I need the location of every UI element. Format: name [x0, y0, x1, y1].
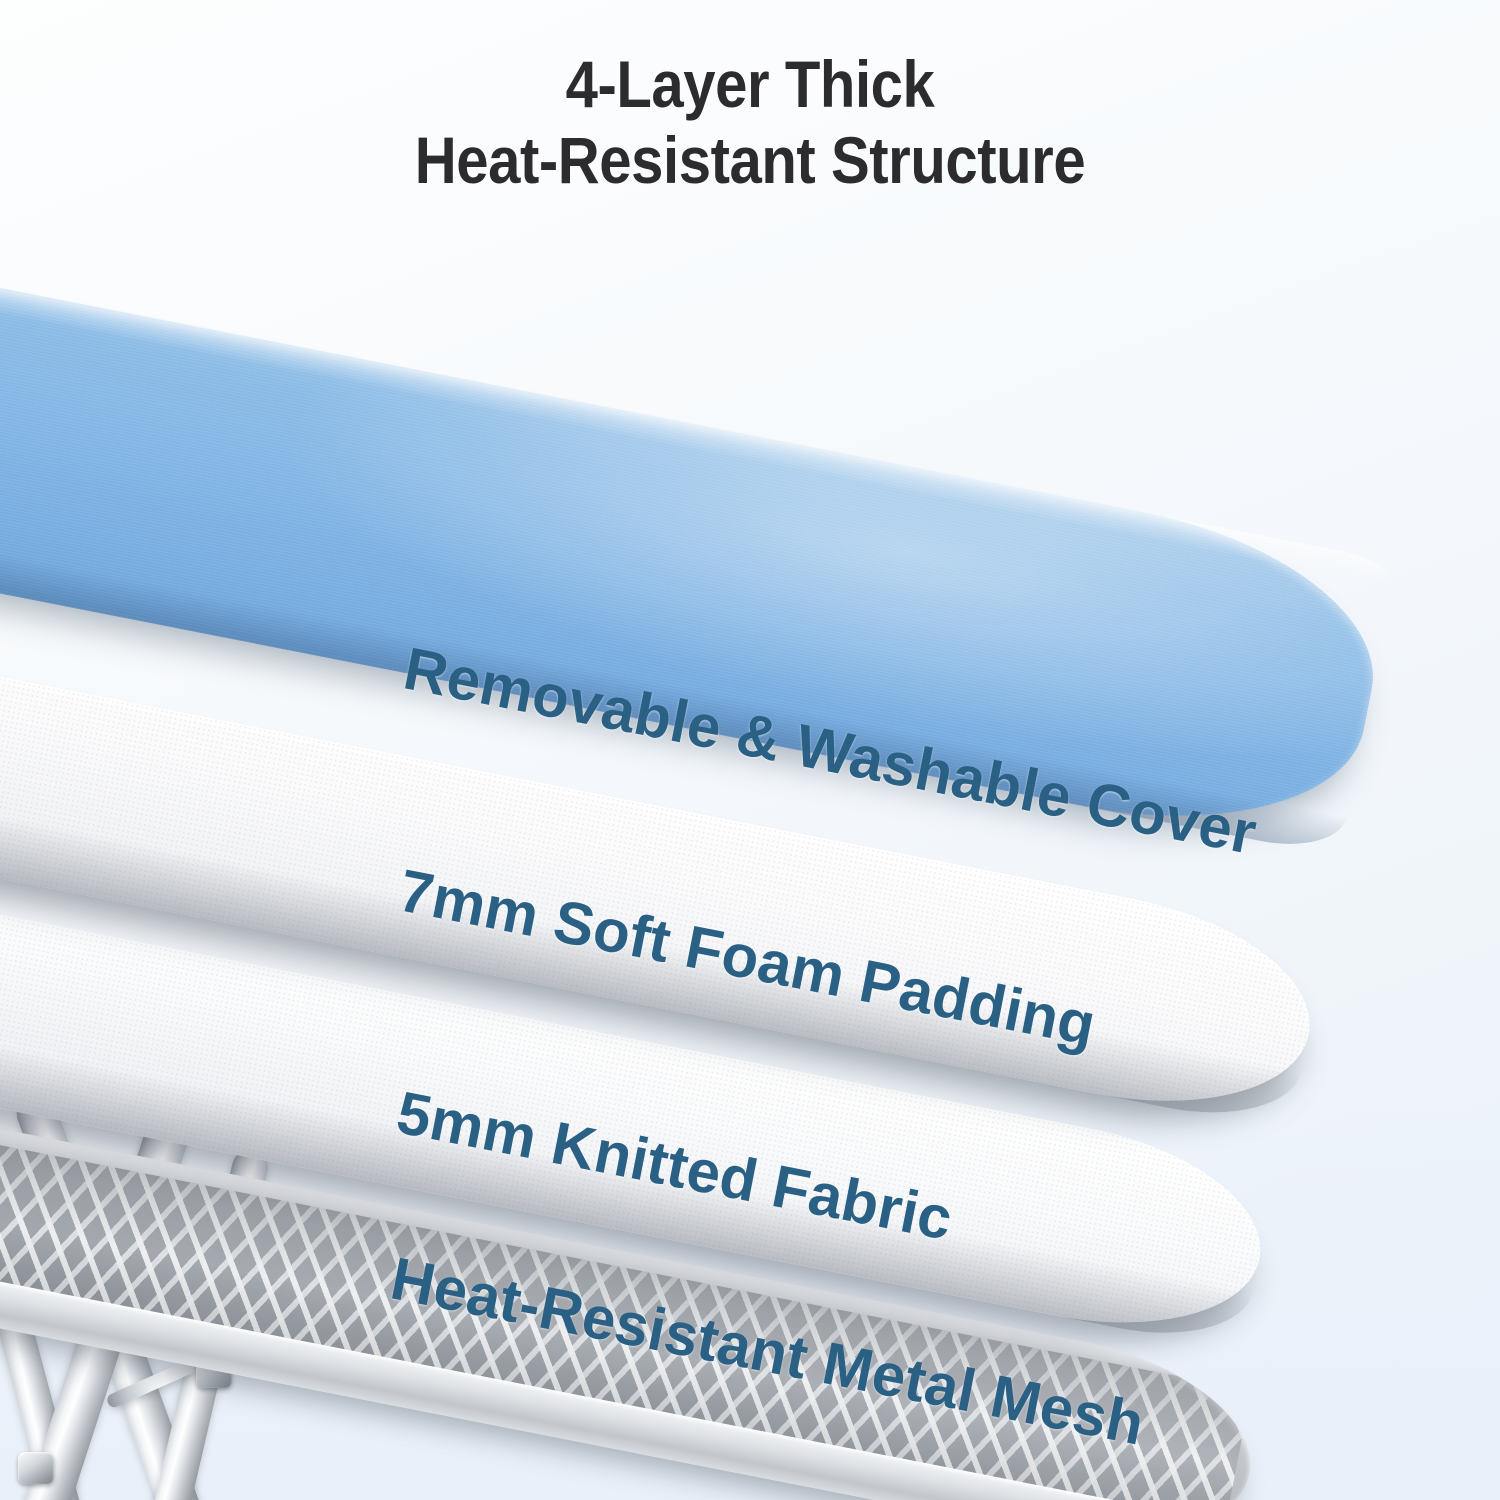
product-infographic: 4-Layer Thick Heat-Resistant Structure [0, 0, 1500, 1500]
leg-bolt-lower [18, 1452, 54, 1484]
title-line-1: 4-Layer Thick [90, 46, 1410, 122]
page-title: 4-Layer Thick Heat-Resistant Structure [0, 46, 1500, 198]
title-line-2: Heat-Resistant Structure [90, 122, 1410, 198]
